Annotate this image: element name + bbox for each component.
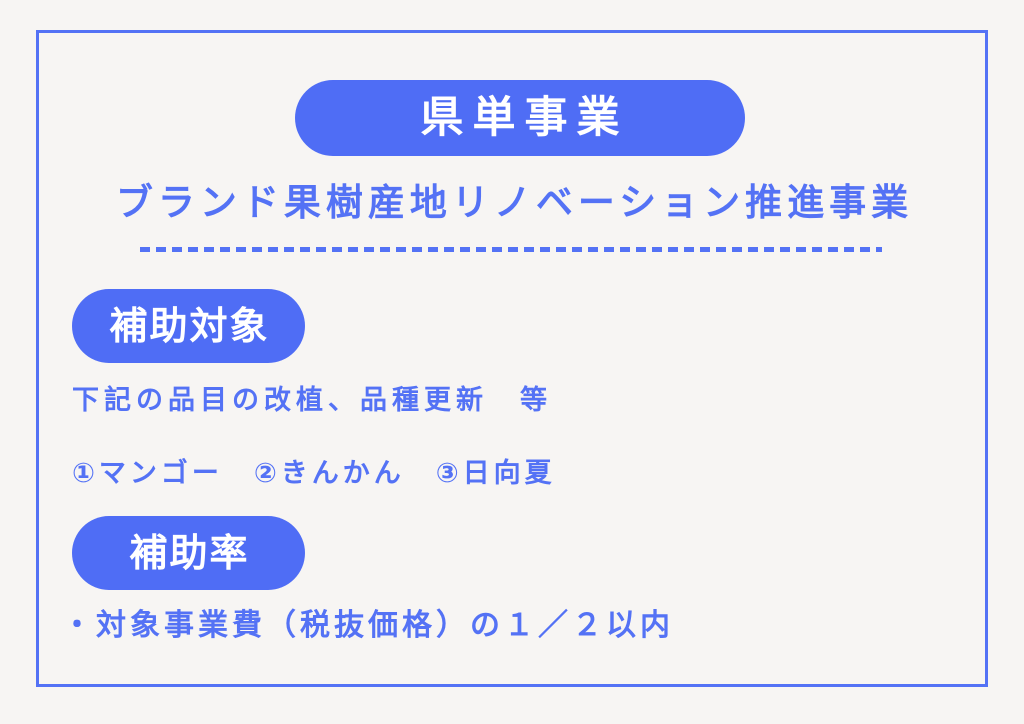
- subsidy-rate-description: ・対象事業費（税抜価格）の１／２以内: [62, 608, 674, 644]
- title-pill-label: 県単事業: [412, 97, 629, 140]
- subsidy-target-item-list: ①マンゴー ②きんかん ③日向夏: [72, 458, 556, 490]
- section-pill-subsidy-rate: 補助率: [72, 516, 305, 590]
- title-pill-badge: 県単事業: [295, 80, 745, 156]
- section-pill-label-subsidy-target: 補助対象: [107, 307, 269, 345]
- section-pill-subsidy-target: 補助対象: [72, 289, 305, 363]
- dashed-divider: [140, 247, 882, 252]
- section-pill-label-subsidy-rate: 補助率: [127, 534, 249, 572]
- subtitle-heading: ブランド果樹産地リノベーション推進事業: [36, 182, 988, 225]
- subsidy-target-description: 下記の品目の改植、品種更新 等: [72, 385, 552, 417]
- poster-canvas: 県単事業 ブランド果樹産地リノベーション推進事業 補助対象 下記の品目の改植、品…: [0, 0, 1024, 724]
